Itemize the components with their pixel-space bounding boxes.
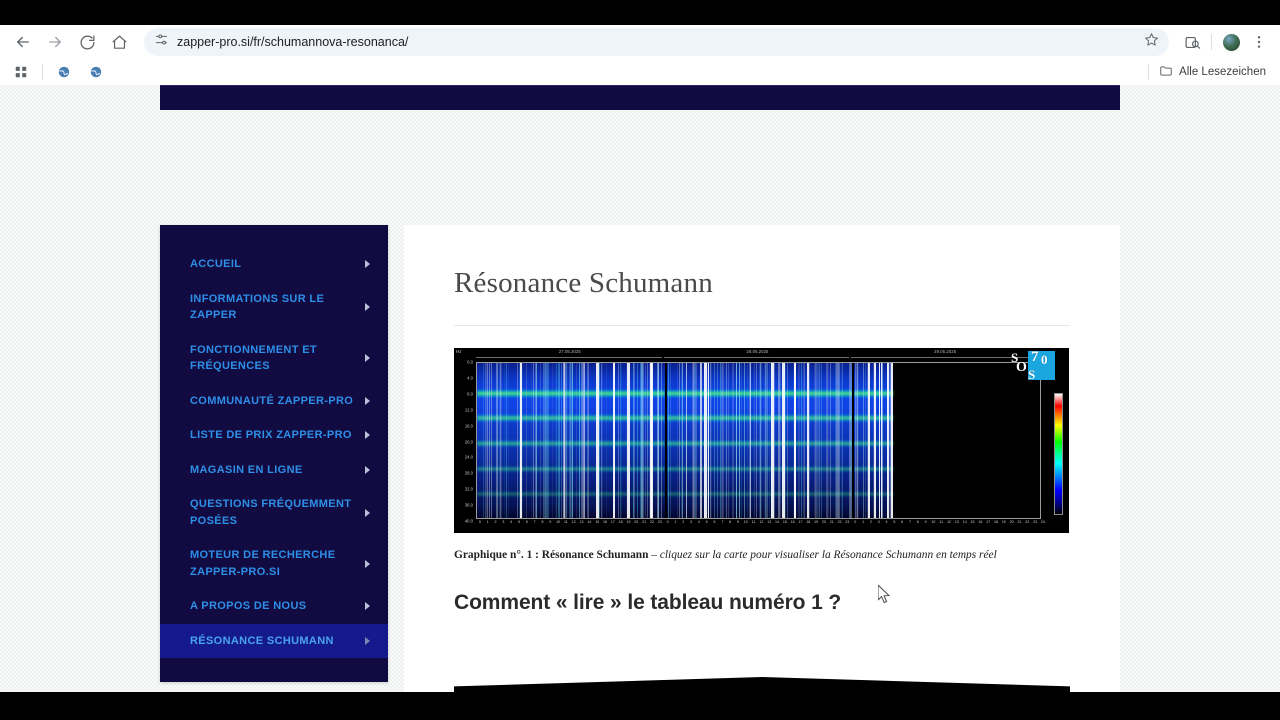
sidebar-item-3[interactable]: COMMUNAUTÉ ZAPPER-PRO [160, 384, 388, 419]
spectrogram-streak [767, 363, 768, 518]
spectrogram-x-tick: 9 [549, 520, 551, 524]
caption-dash: – [648, 549, 659, 561]
spectrogram-streak [533, 363, 534, 518]
spectrogram-x-tick: 3 [690, 520, 692, 524]
spectrogram-streak [798, 363, 800, 518]
spectrogram-streak [728, 363, 729, 518]
spectrogram-x-tick: 5 [893, 520, 895, 524]
spectrogram-x-axis: 0123456789101112131415161718192021222301… [476, 520, 1041, 530]
spectrogram-x-tick: 10 [556, 520, 560, 524]
spectrogram-streak [620, 363, 621, 518]
spectrogram-x-tick: 6 [713, 520, 715, 524]
spectrogram-streak [803, 363, 804, 518]
spectrogram-flare [627, 363, 630, 518]
spectrogram-x-tick: 14 [775, 520, 779, 524]
spectrogram-streak [686, 363, 687, 518]
spectrogram-streak [489, 363, 490, 518]
sidebar-item-8[interactable]: A PROPOS DE NOUS [160, 589, 388, 624]
spectrogram-streak [633, 363, 634, 518]
spectrogram-x-tick: 20 [634, 520, 638, 524]
spectrogram-streak [721, 363, 722, 518]
spectrogram-streak [491, 363, 492, 518]
spectrogram-streak [787, 363, 788, 518]
spectrogram-x-tick: 11 [752, 520, 756, 524]
sidebar-item-label: MOTEUR DE RECHERCHE ZAPPER-PRO.SI [190, 547, 362, 580]
spectrogram-y-tick: 12.0 [465, 407, 473, 412]
spectrogram-streak [747, 363, 748, 518]
spectrogram-x-tick: 24 [1041, 520, 1045, 524]
spectrogram-streak [741, 363, 742, 518]
spectrogram-flare [771, 363, 774, 518]
spectrogram-streak [602, 363, 603, 518]
spectrogram-x-tick: 20 [1010, 520, 1014, 524]
spectrogram-x-tick: 8 [729, 520, 731, 524]
spectrogram-streak [576, 363, 577, 518]
spectrogram-streak [819, 363, 820, 518]
spectrogram-date-rule [664, 357, 850, 358]
spectrogram-x-tick: 15 [971, 520, 975, 524]
spectrogram-flare [874, 363, 876, 518]
spectrogram-data-region [477, 363, 665, 518]
figure-caption: Graphique n°. 1 : Résonance Schumann – c… [454, 547, 1070, 564]
spectrogram-x-tick: 4 [886, 520, 888, 524]
logo-letter-o: O [1016, 360, 1027, 376]
spectrogram-streak [486, 363, 487, 518]
spectrogram-streak [717, 363, 718, 518]
spectrogram-streak [739, 363, 740, 518]
spectrogram-streak [548, 363, 549, 518]
three-dot-menu-icon[interactable] [1246, 29, 1272, 55]
sidebar-item-label: LISTE DE PRIX ZAPPER-PRO [190, 427, 358, 444]
spectrogram-streak [540, 363, 541, 518]
spectrogram-x-tick: 16 [791, 520, 795, 524]
spectrogram-streak [818, 363, 819, 518]
address-bar[interactable]: zapper-pro.si/fr/schumannova-resonanca/ [144, 28, 1169, 56]
spectrogram-streak [535, 363, 536, 518]
spectrogram-streak [710, 363, 711, 518]
search-tabs-icon[interactable] [1179, 29, 1205, 55]
spectrogram-streak [670, 363, 671, 518]
chevron-right-icon [365, 303, 370, 311]
spectrogram-streak [835, 363, 836, 518]
chevron-right-icon [365, 431, 370, 439]
spectrogram-streak [750, 363, 751, 518]
spectrogram-streak [821, 363, 822, 518]
spectrogram-streak [711, 363, 712, 518]
chevron-right-icon [365, 509, 370, 517]
sidebar-item-6[interactable]: QUESTIONS FRÉQUEMMENT POSÉES [160, 487, 388, 538]
chevron-right-icon [365, 602, 370, 610]
spectrogram-x-tick: 15 [783, 520, 787, 524]
apps-grid-icon[interactable] [10, 61, 32, 83]
spectrogram-x-tick: 12 [759, 520, 763, 524]
spectrogram-streak [682, 363, 683, 518]
spectrogram-streak [522, 363, 523, 518]
spectrogram-streak [828, 363, 829, 518]
spectrogram-streak [855, 363, 856, 518]
main-content: Résonance Schumann Hz 27.05.202528.05.20… [404, 225, 1120, 692]
spectrogram-streak [769, 363, 770, 518]
chevron-right-icon [365, 466, 370, 474]
spectrogram-streak [658, 363, 659, 518]
chevron-right-icon [365, 354, 370, 362]
spectrogram-streak [816, 363, 817, 518]
spectrogram-x-tick: 5 [706, 520, 708, 524]
folder-icon [1159, 64, 1173, 81]
spectrogram-streak [579, 363, 580, 518]
spectrogram-flare [596, 363, 599, 518]
sidebar-item-label: FONCTIONNEMENT ET FRÉQUENCES [190, 342, 362, 375]
logo-digit-0: 0 [1041, 352, 1048, 368]
spectrogram-flare [879, 363, 880, 518]
spectrogram-streak [801, 363, 802, 518]
spectrogram-x-tick: 8 [917, 520, 919, 524]
sidebar-item-5[interactable]: MAGASIN EN LIGNE [160, 453, 388, 488]
spectrogram-x-tick: 0 [854, 520, 856, 524]
spectrogram-x-tick: 22 [1025, 520, 1029, 524]
page-viewport: ACCUEILINFORMATIONS SUR LE ZAPPERFONCTIO… [0, 85, 1280, 692]
spectrogram-x-tick: 14 [587, 520, 591, 524]
spectrogram-x-tick: 0 [667, 520, 669, 524]
forward-arrow-icon[interactable] [40, 27, 70, 57]
sidebar-item-7[interactable]: MOTEUR DE RECHERCHE ZAPPER-PRO.SI [160, 538, 388, 589]
toolbar-divider [1211, 34, 1212, 50]
spectrogram-x-tick: 2 [870, 520, 872, 524]
chevron-right-icon [365, 560, 370, 568]
spectrogram-date-labels: 27.05.202528.05.202529.05.2025 [454, 348, 1069, 359]
spectrogram-x-tick: 21 [642, 520, 646, 524]
spectrogram-y-tick: 20.0 [465, 439, 473, 444]
spectrogram-x-tick: 19 [1002, 520, 1006, 524]
bookmarks-bar: Alle Lesezeichen [0, 59, 1280, 85]
spectrogram-streak [726, 363, 727, 518]
spectrogram-x-tick: 1 [487, 520, 489, 524]
spectrogram-x-tick: 18 [619, 520, 623, 524]
spectrogram-flare [868, 363, 870, 518]
spectrogram-streak [700, 363, 702, 518]
spectrogram-x-tick: 19 [626, 520, 630, 524]
sidebar-item-label: QUESTIONS FRÉQUEMMENT POSÉES [190, 496, 362, 529]
spectrogram-streak [588, 363, 589, 518]
spectrogram-streak [566, 363, 567, 518]
site-header-banner [160, 85, 1120, 110]
browser-toolbar: zapper-pro.si/fr/schumannova-resonanca/ [0, 25, 1280, 59]
spectrogram-flare [807, 363, 809, 518]
sidebar-item-label: INFORMATIONS SUR LE ZAPPER [190, 291, 362, 324]
spectrogram-x-tick: 16 [603, 520, 607, 524]
spectrogram-x-tick: 15 [595, 520, 599, 524]
globe-icon[interactable] [53, 61, 75, 83]
spectrogram-y-tick: 4.0 [467, 375, 473, 380]
spectrogram-streak [780, 363, 781, 518]
spectrogram-x-tick: 11 [939, 520, 943, 524]
spectrogram-x-tick: 12 [947, 520, 951, 524]
spectrogram-streak [642, 363, 643, 518]
sidebar-item-label: COMMUNAUTÉ ZAPPER-PRO [190, 393, 359, 410]
spectrogram-x-tick: 18 [994, 520, 998, 524]
bookmarks-divider [42, 64, 43, 80]
spectrogram-streak [517, 363, 518, 518]
spectrogram-streak [561, 363, 562, 518]
spectrogram-y-axis: 0.04.08.012.016.020.024.028.032.036.040.… [454, 360, 476, 521]
spectrogram-x-tick: 21 [830, 520, 834, 524]
all-bookmarks-button[interactable]: Alle Lesezeichen [1159, 64, 1270, 81]
spectrogram-x-tick: 3 [878, 520, 880, 524]
spectrogram-flare [613, 363, 616, 518]
all-bookmarks-label: Alle Lesezeichen [1179, 66, 1266, 78]
spectrogram-streak [865, 363, 866, 518]
spectrogram-y-tick: 16.0 [465, 423, 473, 428]
spectrogram-streak [754, 363, 755, 518]
spectrogram-streak [640, 363, 641, 518]
letterbox-top-bar [0, 0, 1280, 25]
page-title: Résonance Schumann [454, 267, 1070, 300]
sidebar-item-label: ACCUEIL [190, 256, 247, 273]
infographic-roof-shape [454, 677, 1070, 692]
sidebar-item-label: RÉSONANCE SCHUMANN [190, 633, 340, 650]
logo-digit-7: 7 [1031, 349, 1039, 366]
spectrogram-x-tick: 13 [955, 520, 959, 524]
spectrogram-streak [555, 363, 556, 518]
spectrogram-x-tick: 7 [721, 520, 723, 524]
browser-chrome: zapper-pro.si/fr/schumannova-resonanca/ [0, 25, 1280, 85]
spectrogram-streak [756, 363, 757, 518]
spectrogram-streak [679, 363, 680, 518]
spectrogram-streak [621, 363, 622, 518]
sidebar-item-1[interactable]: INFORMATIONS SUR LE ZAPPER [160, 282, 388, 333]
spectrogram-streak [736, 363, 737, 518]
sidebar-item-2[interactable]: FONCTIONNEMENT ET FRÉQUENCES [160, 333, 388, 384]
spectrogram-x-tick: 8 [541, 520, 543, 524]
spectrogram-x-tick: 3 [502, 520, 504, 524]
spectrogram-streak [558, 363, 559, 518]
star-icon[interactable] [1144, 32, 1159, 52]
spectrogram-x-tick: 17 [986, 520, 990, 524]
spectrogram-streak [599, 363, 600, 518]
spectrogram-x-tick: 12 [572, 520, 576, 524]
spectrogram-x-tick: 23 [845, 520, 849, 524]
spectrogram-streak [552, 363, 553, 518]
sidebar-item-0[interactable]: ACCUEIL [160, 247, 388, 282]
bookmarks-right-divider [1148, 64, 1149, 80]
spectrogram-figure: Hz 27.05.202528.05.202529.05.2025 0.04.0… [454, 348, 1070, 533]
spectrogram-streak [601, 363, 602, 518]
home-icon[interactable] [104, 27, 134, 57]
spectrogram-date-label: 28.05.2025 [747, 349, 769, 354]
spectrogram-streak [744, 363, 745, 518]
spectrogram-streak [545, 363, 546, 518]
spectrogram-y-tick: 24.0 [465, 455, 473, 460]
spectrogram-x-tick: 0 [479, 520, 481, 524]
spectrogram-x-tick: 22 [650, 520, 654, 524]
spectrogram-x-tick: 6 [901, 520, 903, 524]
spectrogram-x-tick: 2 [682, 520, 684, 524]
spectrogram-x-tick: 23 [1033, 520, 1037, 524]
spectrogram-flare [891, 363, 893, 518]
spectrogram-streak [766, 363, 767, 518]
spectrogram-streak [606, 363, 607, 518]
spectrogram-flare [881, 363, 882, 518]
spectrogram-streak [761, 363, 762, 518]
spectrogram-streak [501, 363, 502, 518]
spectrogram-x-tick: 4 [698, 520, 700, 524]
spectrogram-streak [809, 363, 810, 518]
spectrogram-streak [504, 363, 505, 518]
spectrogram-x-tick: 20 [822, 520, 826, 524]
spectrogram-streak [508, 363, 509, 518]
spectrogram-x-tick: 1 [862, 520, 864, 524]
spectrogram-date-label: 29.05.2025 [934, 349, 956, 354]
spectrogram-x-tick: 2 [495, 520, 497, 524]
spectrogram-x-tick: 9 [737, 520, 739, 524]
spectrogram-x-tick: 21 [1017, 520, 1021, 524]
spectrogram-x-tick: 18 [806, 520, 810, 524]
spectrogram-streak [536, 363, 537, 518]
spectrogram-streak [572, 363, 573, 518]
spectrogram-streak [661, 363, 662, 518]
spectrogram-streak [841, 363, 842, 518]
spectrogram-data-region [854, 363, 893, 518]
back-arrow-icon[interactable] [8, 27, 38, 57]
spectrogram-streak [849, 363, 850, 518]
spectrogram-x-tick: 19 [814, 520, 818, 524]
spectrogram-flare [650, 363, 653, 518]
spectrogram-streak [647, 363, 648, 518]
spectrogram-date-label: 27.05.2025 [559, 349, 581, 354]
spectrogram-streak [564, 363, 565, 518]
spectrogram-flare [782, 363, 785, 518]
spectrogram-x-tick: 1 [674, 520, 676, 524]
spectrogram-x-tick: 13 [767, 520, 771, 524]
spectrogram-y-tick: 32.0 [465, 487, 473, 492]
spectrogram-streak [838, 363, 839, 518]
globe-icon[interactable] [85, 61, 107, 83]
schumann-spectrogram-chart[interactable]: Hz 27.05.202528.05.202529.05.2025 0.04.0… [454, 348, 1069, 533]
spectrogram-streak [693, 363, 695, 518]
reload-icon[interactable] [72, 27, 102, 57]
spectrogram-colorbar [1054, 393, 1063, 515]
spectrogram-streak [785, 363, 786, 518]
spectrogram-day-panel [852, 363, 1040, 518]
spectrogram-y-tick: 40.0 [465, 519, 473, 524]
spectrogram-day-panel [477, 363, 665, 518]
spectrogram-streak [583, 363, 585, 518]
spectrogram-flare [887, 363, 889, 518]
spectrogram-streak [696, 363, 697, 518]
spectrogram-x-tick: 5 [518, 520, 520, 524]
spectrogram-streak [774, 363, 775, 518]
spectrogram-streak [759, 363, 760, 518]
spectrogram-x-tick: 23 [658, 520, 662, 524]
spectrogram-y-tick: 36.0 [465, 503, 473, 508]
spectrogram-y-tick: 28.0 [465, 471, 473, 476]
spectrogram-x-tick: 13 [580, 520, 584, 524]
spectrogram-streak [637, 363, 638, 518]
spectrogram-day-panel [665, 363, 853, 518]
chevron-right-icon [365, 637, 370, 645]
spectrogram-x-tick: 22 [838, 520, 842, 524]
spectrogram-streak [863, 363, 864, 518]
spectrogram-plot-area [476, 362, 1041, 519]
spectrogram-flare [794, 363, 796, 518]
sidebar-item-9[interactable]: RÉSONANCE SCHUMANN [160, 624, 388, 659]
mouse-cursor [878, 585, 892, 605]
spectrogram-streak [645, 363, 646, 518]
spectrogram-x-tick: 14 [963, 520, 967, 524]
spectrogram-date-rule [476, 357, 662, 358]
spectrogram-x-tick: 10 [931, 520, 935, 524]
url-text[interactable]: zapper-pro.si/fr/schumannova-resonanca/ [177, 35, 1136, 49]
sidebar-item-label: MAGASIN EN LIGNE [190, 462, 309, 479]
spectrogram-flare [704, 363, 706, 518]
spectrogram-x-tick: 9 [925, 520, 927, 524]
title-divider [454, 325, 1070, 326]
sidebar-item-4[interactable]: LISTE DE PRIX ZAPPER-PRO [160, 418, 388, 453]
spectrogram-streak [732, 363, 734, 518]
spectrogram-y-tick: 8.0 [467, 391, 473, 396]
spectrogram-streak [882, 363, 883, 518]
spectrogram-x-tick: 7 [534, 520, 536, 524]
spectrogram-x-tick: 11 [564, 520, 568, 524]
spectrogram-streak [556, 363, 557, 518]
spectrogram-streak [722, 363, 723, 518]
spectrogram-x-tick: 7 [909, 520, 911, 524]
spectrogram-data-region [667, 363, 853, 518]
spectrogram-streak [506, 363, 507, 518]
sidebar-menu: ACCUEILINFORMATIONS SUR LE ZAPPERFONCTIO… [160, 225, 388, 676]
chevron-right-icon [365, 260, 370, 268]
spectrogram-streak [714, 363, 715, 518]
sidebar-navigation: ACCUEILINFORMATIONS SUR LE ZAPPERFONCTIO… [160, 225, 388, 682]
caption-italic: cliquez sur la carte pour visualiser la … [660, 549, 997, 561]
spectrogram-streak [839, 363, 840, 518]
site-settings-icon[interactable] [154, 32, 169, 52]
spectrogram-x-tick: 17 [611, 520, 615, 524]
chevron-right-icon [365, 397, 370, 405]
infographic-diagram: Frekvenčni Pasovi Datum 4 Hz 7.8 Hz Glav… [454, 677, 1070, 692]
spectrogram-x-tick: 4 [510, 520, 512, 524]
letterbox-bottom-bar [0, 692, 1280, 720]
spectrogram-streak [526, 363, 527, 518]
sos70s-logo: S O S 7 0 [1009, 350, 1055, 386]
spectrogram-streak [500, 363, 501, 518]
spectrogram-x-tick: 6 [526, 520, 528, 524]
spectrogram-flare [520, 363, 522, 518]
spectrogram-streak [497, 363, 498, 518]
spectrogram-streak [857, 363, 858, 518]
spectrogram-streak [830, 363, 831, 518]
spectrogram-y-tick: 0.0 [467, 360, 473, 365]
logo-letter-s2: S [1028, 367, 1035, 383]
avatar-icon[interactable] [1218, 29, 1244, 55]
spectrogram-x-tick: 17 [799, 520, 803, 524]
section-heading-howto: Comment « lire » le tableau numéro 1 ? [454, 591, 1070, 615]
spectrogram-x-tick: 10 [744, 520, 748, 524]
spectrogram-x-tick: 16 [978, 520, 982, 524]
caption-bold: Graphique n°. 1 : Résonance Schumann [454, 549, 648, 561]
spectrogram-flare [708, 363, 709, 518]
sidebar-item-label: A PROPOS DE NOUS [190, 598, 312, 615]
